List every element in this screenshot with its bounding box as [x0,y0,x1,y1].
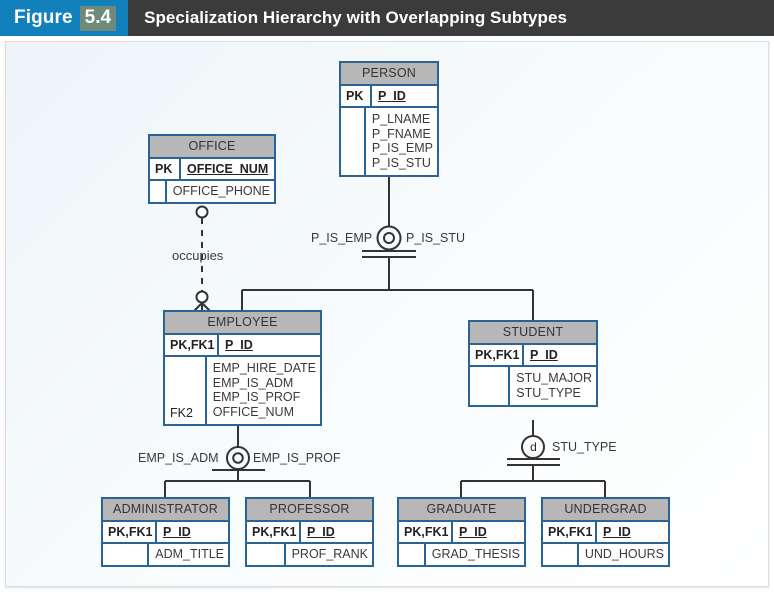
figure-caption: Specialization Hierarchy with Overlappin… [128,0,567,36]
entity-graduate-pk-attr: P_ID [459,525,487,539]
entity-undergrad[interactable]: UNDERGRAD PK,FK1 P_ID UND_HOURS [541,497,670,567]
entity-undergrad-attr-row: UND_HOURS [543,544,668,565]
entity-student-pk-key: PK,FK1 [470,345,524,365]
entity-person-pk-row: PK P_ID [341,86,437,108]
entity-person-attr-2: P_IS_EMP [372,141,433,156]
entity-student-attr-key [470,367,510,405]
entity-professor-pk-key: PK,FK1 [247,522,301,542]
entity-undergrad-pk-key: PK,FK1 [543,522,597,542]
entity-employee-attr-row: FK2 EMP_HIRE_DATE EMP_IS_ADM EMP_IS_PROF… [165,357,320,424]
entity-person-attr-key [341,108,366,175]
entity-employee-attr-1: EMP_IS_ADM [213,376,316,391]
entity-employee-attr-0: EMP_HIRE_DATE [213,361,316,376]
entity-employee-pk-attr: P_ID [225,338,253,352]
entity-employee[interactable]: EMPLOYEE PK,FK1 P_ID FK2 EMP_HIRE_DATE E… [163,310,322,426]
entity-administrator-title: ADMINISTRATOR [103,499,228,522]
label-p-is-stu: P_IS_STU [406,231,465,245]
entity-administrator[interactable]: ADMINISTRATOR PK,FK1 P_ID ADM_TITLE [101,497,230,567]
entity-graduate-attr-0: GRAD_THESIS [432,547,520,562]
entity-student[interactable]: STUDENT PK,FK1 P_ID STU_MAJOR STU_TYPE [468,320,598,407]
entity-professor-title: PROFESSOR [247,499,372,522]
entity-graduate-pk-row: PK,FK1 P_ID [399,522,524,544]
entity-office-attr-row: OFFICE_PHONE [150,181,274,202]
entity-employee-attr-key: FK2 [165,357,207,424]
entity-person-attr-0: P_LNAME [372,112,433,127]
entity-undergrad-title: UNDERGRAD [543,499,668,522]
entity-person-attr-1: P_FNAME [372,127,433,142]
entity-graduate-pk-key: PK,FK1 [399,522,453,542]
entity-undergrad-attr-key [543,544,579,565]
label-emp-is-prof: EMP_IS_PROF [253,451,341,465]
figure-number-tag: Figure 5.4 [0,0,128,36]
entity-undergrad-pk-row: PK,FK1 P_ID [543,522,668,544]
entity-administrator-attr-key [103,544,149,565]
entity-employee-pk-key: PK,FK1 [165,335,219,355]
disjoint-letter-student: d [529,440,538,454]
entity-undergrad-pk-attr: P_ID [603,525,631,539]
entity-person-pk-key: PK [341,86,372,106]
entity-administrator-attr-0: ADM_TITLE [155,547,224,562]
entity-administrator-attr-row: ADM_TITLE [103,544,228,565]
entity-student-pk-attr: P_ID [530,348,558,362]
entity-administrator-pk-row: PK,FK1 P_ID [103,522,228,544]
figure-word-label: Figure [14,7,73,29]
entity-person-pk-attr: P_ID [378,89,406,103]
label-stu-type: STU_TYPE [552,440,617,454]
entity-office-pk-key: PK [150,159,181,179]
entity-person[interactable]: PERSON PK P_ID P_LNAME P_FNAME P_IS_EMP … [339,61,439,177]
entity-professor-attr-key [247,544,286,565]
figure-number-badge: 5.4 [80,6,116,31]
entity-office-attr-0: OFFICE_PHONE [173,184,270,199]
entity-employee-pk-row: PK,FK1 P_ID [165,335,320,357]
entity-professor-pk-row: PK,FK1 P_ID [247,522,372,544]
entity-professor-attr-0: PROF_RANK [292,547,368,562]
entity-graduate-title: GRADUATE [399,499,524,522]
label-p-is-emp: P_IS_EMP [311,231,372,245]
entity-professor[interactable]: PROFESSOR PK,FK1 P_ID PROF_RANK [245,497,374,567]
entity-employee-attr-2: EMP_IS_PROF [213,390,316,405]
entity-student-title: STUDENT [470,322,596,345]
entity-office-title: OFFICE [150,136,274,159]
entity-person-title: PERSON [341,63,437,86]
entity-student-pk-row: PK,FK1 P_ID [470,345,596,367]
entity-graduate-attr-key [399,544,426,565]
entity-professor-pk-attr: P_ID [307,525,335,539]
entity-employee-attr-3: OFFICE_NUM [213,405,316,420]
entity-office[interactable]: OFFICE PK OFFICE_NUM OFFICE_PHONE [148,134,276,204]
label-emp-is-adm: EMP_IS_ADM [138,451,219,465]
entity-person-attr-row: P_LNAME P_FNAME P_IS_EMP P_IS_STU [341,108,437,175]
entity-administrator-pk-key: PK,FK1 [103,522,157,542]
entity-employee-title: EMPLOYEE [165,312,320,335]
entity-office-attr-key [150,181,167,202]
entity-student-attr-0: STU_MAJOR [516,371,592,386]
entity-graduate-attr-row: GRAD_THESIS [399,544,524,565]
entity-administrator-pk-attr: P_ID [163,525,191,539]
entity-undergrad-attr-0: UND_HOURS [585,547,664,562]
entity-person-attr-3: P_IS_STU [372,156,433,171]
entity-student-attr-1: STU_TYPE [516,386,592,401]
entity-professor-attr-row: PROF_RANK [247,544,372,565]
entity-office-pk-row: PK OFFICE_NUM [150,159,274,181]
label-occupies: occupies [172,248,223,263]
entity-graduate[interactable]: GRADUATE PK,FK1 P_ID GRAD_THESIS [397,497,526,567]
entity-office-pk-attr: OFFICE_NUM [187,162,268,176]
entity-student-attr-row: STU_MAJOR STU_TYPE [470,367,596,405]
figure-title-bar: Figure 5.4 Specialization Hierarchy with… [0,0,774,36]
